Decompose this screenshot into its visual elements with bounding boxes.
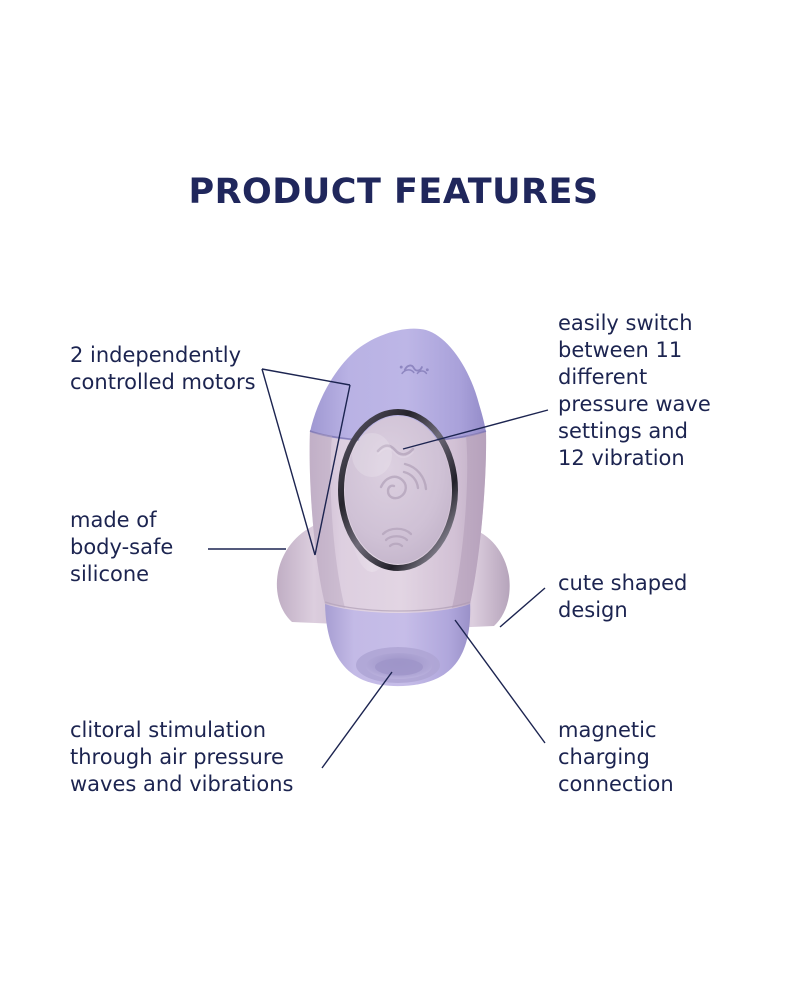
callout-clitoral-stimulation: clitoral stimulation through air pressur… bbox=[70, 717, 340, 798]
callout-silicone: made of body-safe silicone bbox=[70, 507, 280, 588]
callout-motors: 2 independently controlled motors bbox=[70, 342, 300, 396]
callout-magnetic-charging: magnetic charging connection bbox=[558, 717, 748, 798]
product-features-page: PRODUCT FEATURES bbox=[0, 0, 787, 999]
product-illustration bbox=[0, 0, 787, 999]
air-pulse-nozzle-inner bbox=[375, 659, 423, 676]
panel-highlight bbox=[352, 433, 392, 477]
callout-pressure-wave-settings: easily switch between 11 different press… bbox=[558, 310, 758, 472]
leader-magnetic bbox=[455, 620, 545, 743]
callout-cute-shaped-design: cute shaped design bbox=[558, 570, 748, 624]
product-body-group bbox=[277, 329, 510, 687]
